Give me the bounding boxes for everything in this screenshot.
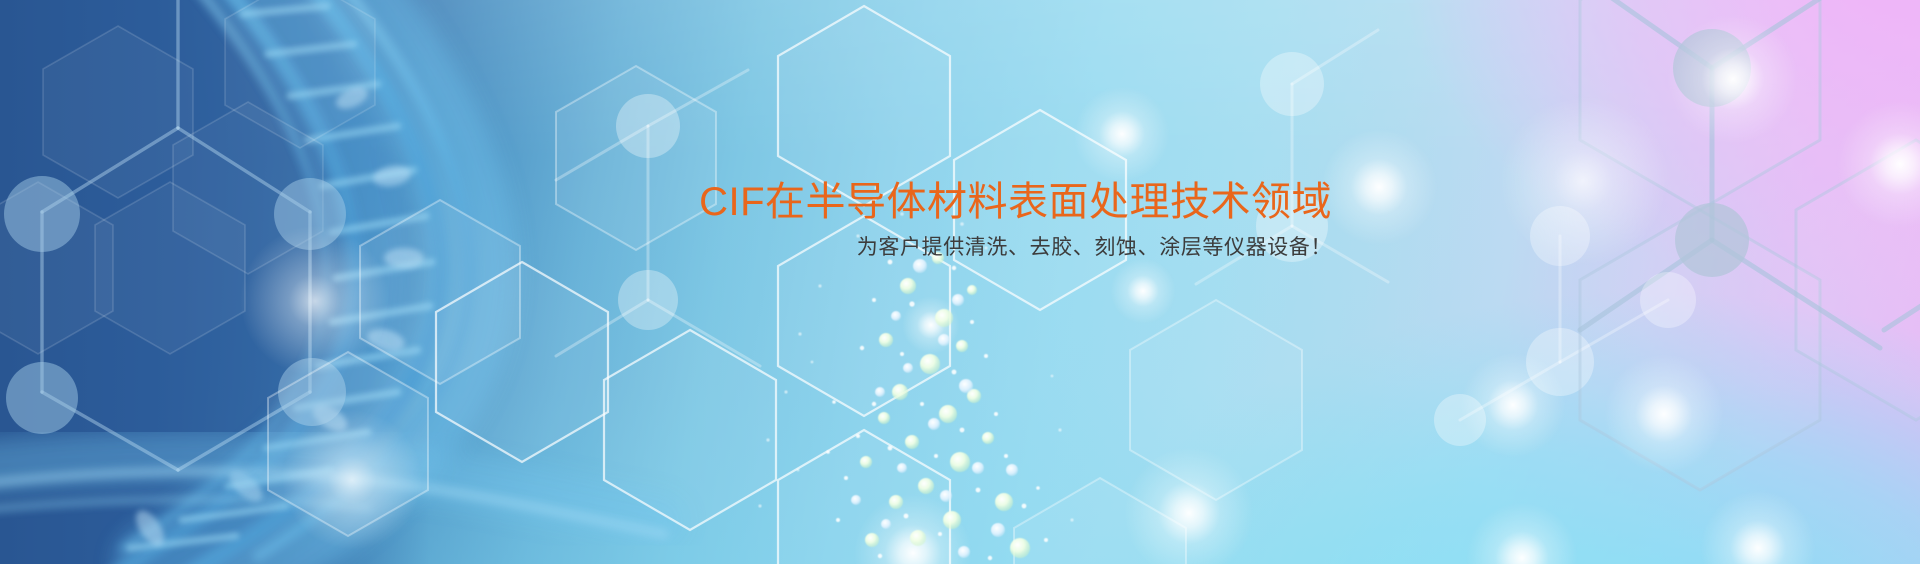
- background-vertical-shade: [0, 0, 1920, 564]
- glow-spot: [1466, 502, 1578, 564]
- cyan-corner-glow: [0, 0, 1920, 564]
- glow-spot: [1460, 352, 1566, 458]
- dna-double-helix: [0, 0, 1920, 564]
- banner-subtitle: 为客户提供清洗、去胶、刻蚀、涂层等仪器设备！: [0, 234, 1332, 262]
- glow-spot: [1074, 86, 1170, 182]
- glow-spot: [1124, 448, 1254, 564]
- glow-spot: [902, 296, 960, 354]
- glow-spot: [854, 494, 972, 564]
- hexagon-molecular-lattice: [0, 0, 1920, 564]
- sparkle-particle-column: [0, 0, 1920, 564]
- lens-flare-glow-spots: [0, 0, 1920, 564]
- page-title: CIF在半导体材料表面处理技术领域: [0, 178, 1332, 226]
- glow-spot: [1604, 354, 1724, 474]
- glow-spot: [1498, 96, 1668, 266]
- glow-spot: [1110, 258, 1176, 324]
- pink-corner-glow: [0, 0, 1920, 564]
- deep-blue-left-panel: [0, 0, 430, 564]
- glow-spot: [1668, 14, 1798, 144]
- glow-spot: [1320, 128, 1438, 246]
- glow-spot: [1836, 100, 1920, 228]
- banner-copy: CIF在半导体材料表面处理技术领域 为客户提供清洗、去胶、刻蚀、涂层等仪器设备！: [0, 178, 1332, 262]
- glow-spot: [282, 410, 422, 550]
- hero-banner: CIF在半导体材料表面处理技术领域 为客户提供清洗、去胶、刻蚀、涂层等仪器设备！: [0, 0, 1920, 564]
- glow-spot: [1700, 490, 1816, 564]
- background-gradient: [0, 0, 1920, 564]
